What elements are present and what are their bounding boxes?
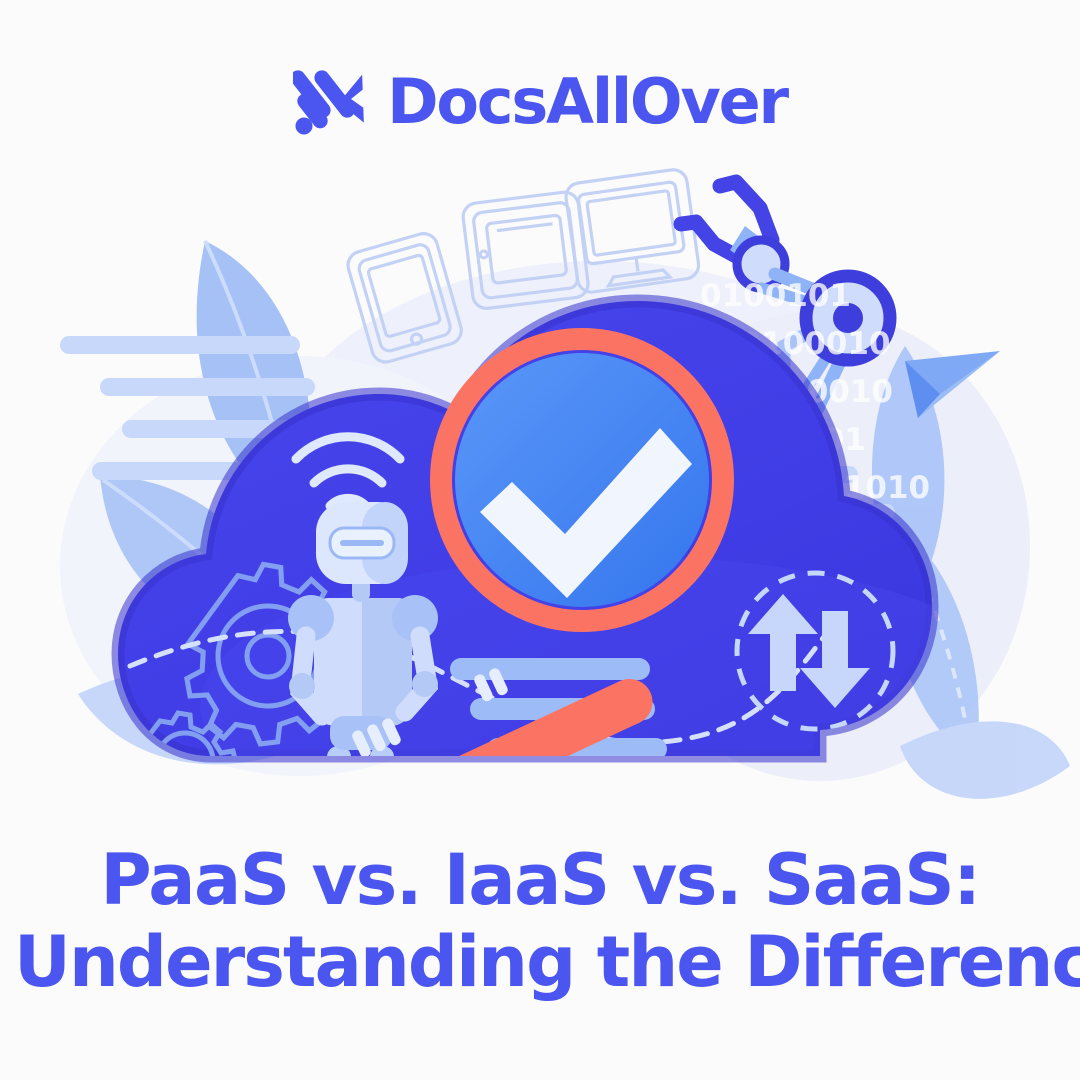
docsallover-logo-icon	[293, 69, 367, 135]
brand-name: DocsAllOver	[387, 71, 787, 133]
title-line-2: Understanding the Differences	[14, 922, 1066, 1004]
page-title: PaaS vs. IaaS vs. SaaS: Understanding th…	[0, 840, 1080, 1004]
magnifier-icon	[441, 339, 723, 621]
title-line-1: PaaS vs. IaaS vs. SaaS:	[14, 840, 1066, 922]
poster-canvas: DocsAllOver	[0, 0, 1080, 1080]
cloud-computing-illustration: 0100101 10100010 1010010 10101 010101010	[0, 146, 1080, 836]
svg-text:0100101: 0100101	[700, 278, 851, 314]
brand-header: DocsAllOver	[0, 56, 1080, 148]
